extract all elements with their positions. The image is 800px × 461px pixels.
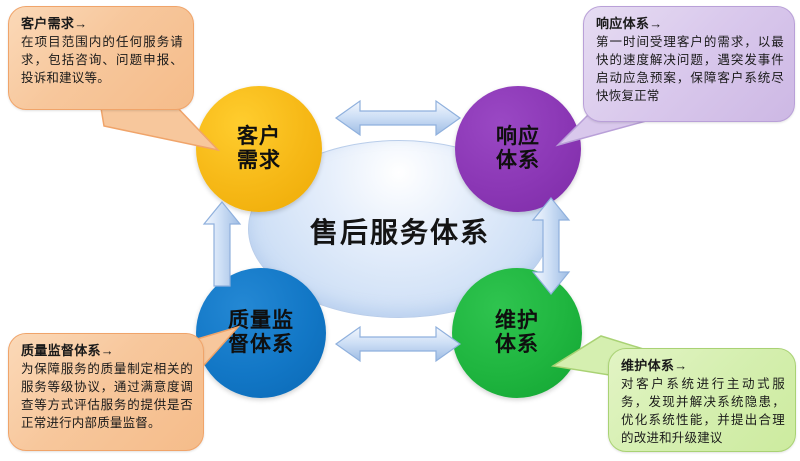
arrow-left-vertical-up [199, 200, 245, 288]
arrow-top-horizontal [334, 96, 462, 140]
arrow-bottom-horizontal [334, 322, 462, 366]
node-response-line1: 响应 [496, 125, 540, 149]
callout-maintenance-system: 维护体系→ 对客户系统进行主动式服务，发现并解决系统隐患，优化系统性能，并提出合… [608, 348, 796, 452]
diagram-canvas: 售后服务体系 客户 需求 响应 体系 质量监 督体系 维护 体系 [0, 0, 800, 461]
callout-demand-title: 客户需求→ [21, 15, 183, 33]
callout-quality-title: 质量监督体系→ [21, 342, 193, 360]
callout-response-title: 响应体系→ [596, 15, 784, 33]
callout-quality-body: 为保障服务的质量制定相关的服务等级协议，通过满意度调查等方式评估服务的提供是否正… [21, 361, 193, 432]
arrow-right-vertical-double [528, 196, 574, 296]
callout-demand-body: 在项目范围内的任何服务请求，包括咨询、问题申报、投诉和建议等。 [21, 34, 183, 87]
callout-tail-demand [100, 100, 230, 180]
callout-customer-demand: 客户需求→ 在项目范围内的任何服务请求，包括咨询、问题申报、投诉和建议等。 [8, 6, 194, 110]
callout-maintain-body: 对客户系统进行主动式服务，发现并解决系统隐患，优化系统性能，并提出合理的改进和升… [621, 376, 785, 447]
node-demand-line1: 客户 [237, 125, 281, 149]
callout-response-system: 响应体系→ 第一时间受理客户的需求，以最快的速度解决问题，遇突发事件启动应急预案… [583, 6, 795, 122]
node-demand-line2: 需求 [237, 149, 281, 173]
node-response-line2: 体系 [496, 149, 540, 173]
node-maintain-line1: 维护 [495, 309, 539, 333]
callout-response-body: 第一时间受理客户的需求，以最快的速度解决问题，遇突发事件启动应急预案，保障客户系… [596, 34, 784, 105]
callout-maintain-title: 维护体系→ [621, 357, 785, 375]
node-maintain-line2: 体系 [495, 333, 539, 357]
callout-quality-supervision: 质量监督体系→ 为保障服务的质量制定相关的服务等级协议，通过满意度调查等方式评估… [8, 333, 204, 451]
